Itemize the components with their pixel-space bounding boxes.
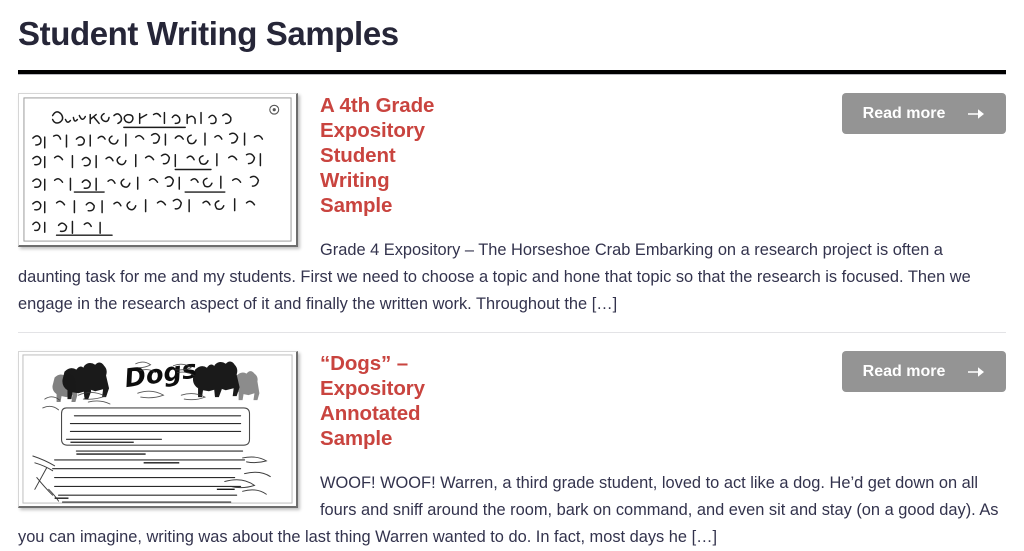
page-title: Student Writing Samples — [0, 0, 1024, 54]
article-title-link[interactable]: A 4th Grade Expository Student Writing S… — [320, 94, 434, 217]
arrow-right-icon — [967, 364, 985, 380]
read-more-label: Read more — [863, 105, 946, 123]
read-more-button[interactable]: Read more — [842, 93, 1006, 134]
article-thumbnail[interactable] — [18, 93, 298, 247]
read-more-label: Read more — [863, 363, 946, 381]
student-writing-samples-page: Student Writing Samples — [0, 0, 1024, 515]
handwriting-sample-image — [19, 94, 296, 245]
annotated-dogs-sample-image: Dogs — [19, 352, 296, 506]
arrow-right-icon — [967, 106, 985, 122]
article-thumbnail[interactable]: Dogs — [18, 351, 298, 508]
article-item: Dogs — [0, 333, 1024, 551]
read-more-button[interactable]: Read more — [842, 351, 1006, 392]
article-item: A 4th Grade Expository Student Writing S… — [0, 75, 1024, 318]
article-excerpt: Grade 4 Expository – The Horseshoe Crab … — [18, 237, 1006, 318]
article-title-link[interactable]: “Dogs” – Expository Annotated Sample — [320, 352, 425, 450]
